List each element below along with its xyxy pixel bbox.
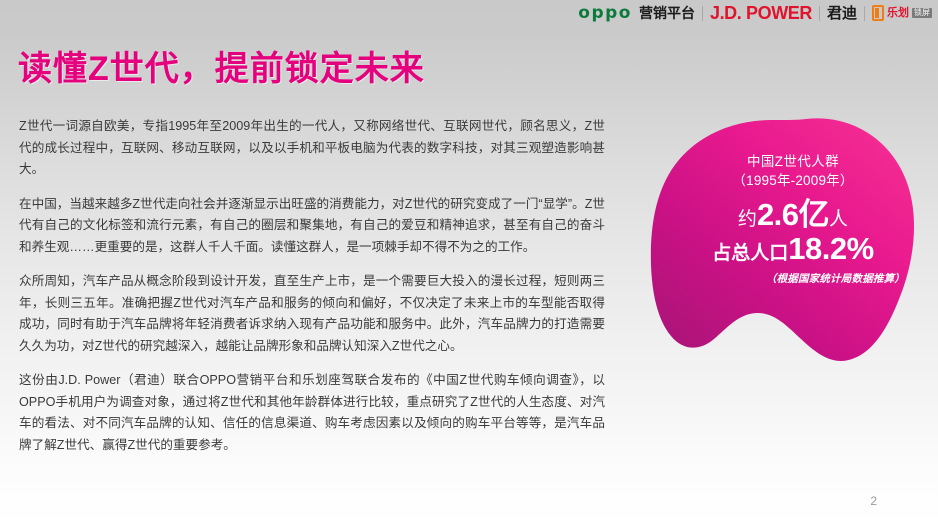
logo-divider	[819, 6, 820, 21]
blob-shape	[648, 108, 938, 398]
page-title: 读懂Z世代，提前锁定未来	[18, 49, 425, 90]
jundi-logo: 君迪	[827, 6, 857, 21]
leshua-phone-icon	[872, 5, 884, 21]
oppo-marketing-platform-label: 营销平台	[639, 6, 695, 20]
population-infographic: 中国Z世代人群 （1995年-2009年） 约2.6亿人 占总人口18.2% （…	[648, 108, 938, 398]
paragraph: 在中国，当越来越多Z世代走向社会并逐渐显示出旺盛的消费能力，对Z世代的研究变成了…	[19, 194, 605, 259]
leshua-label: 乐划	[887, 8, 909, 19]
logo-divider	[864, 6, 865, 21]
body-copy: Z世代一词源自欧美，专指1995年至2009年出生的一代人，又称网络世代、互联网…	[19, 116, 605, 456]
logo-divider	[702, 6, 703, 21]
paragraph: 众所周知，汽车产品从概念阶段到设计开发，直至生产上市，是一个需要巨大投入的漫长过…	[19, 271, 605, 357]
leshua-logo: 乐划 锁屏	[872, 5, 932, 21]
slide-canvas: oppo 营销平台 J.D. POWER 君迪 乐划 锁屏 读懂Z世代，提前锁定…	[0, 0, 938, 525]
jd-power-logo: J.D. POWER	[710, 4, 812, 22]
partner-logo-bar: oppo 营销平台 J.D. POWER 君迪 乐划 锁屏	[568, 0, 938, 26]
page-number: 2	[870, 494, 877, 508]
paragraph: Z世代一词源自欧美，专指1995年至2009年出生的一代人，又称网络世代、互联网…	[19, 116, 605, 181]
paragraph: 这份由J.D. Power（君迪）联合OPPO营销平台和乐划座驾联合发布的《中国…	[19, 370, 605, 456]
oppo-logo: oppo	[578, 5, 632, 22]
leshua-lockscreen-badge: 锁屏	[912, 8, 932, 18]
